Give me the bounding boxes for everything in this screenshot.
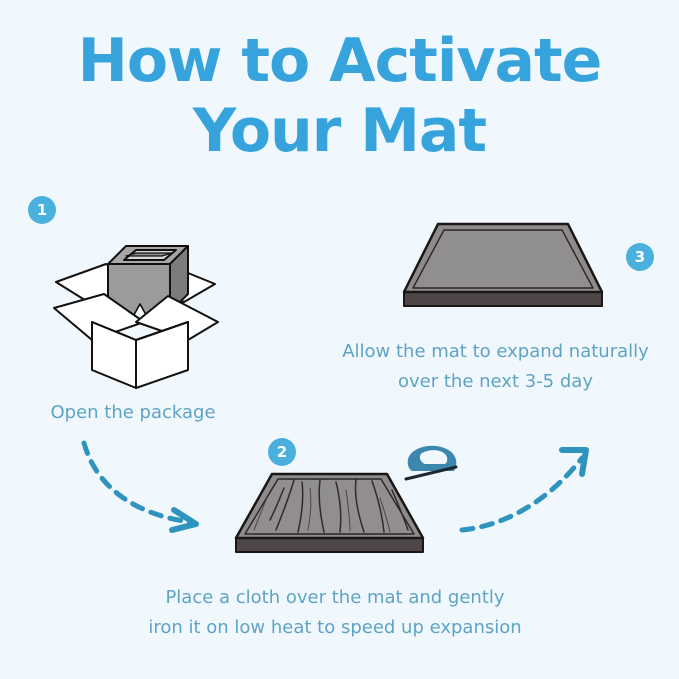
step-caption-1: Open the package — [0, 398, 266, 428]
dashed-arrow-down-right-icon — [78, 438, 223, 543]
caption-line: over the next 3-5 day — [318, 367, 673, 397]
caption-line: Allow the mat to expand naturally — [318, 337, 673, 367]
wrinkled-mat-icon — [232, 468, 427, 568]
step-badge-2: 2 — [268, 438, 296, 466]
open-box-icon — [48, 222, 223, 397]
page-title: How to Activate Your Mat — [0, 26, 679, 166]
title-line-1: How to Activate — [0, 26, 679, 96]
caption-line: Place a cloth over the mat and gently — [75, 583, 595, 613]
step-badge-3: 3 — [626, 243, 654, 271]
step-badge-1: 1 — [28, 196, 56, 224]
infographic-canvas: How to Activate Your Mat 1 — [0, 0, 679, 679]
caption-line: iron it on low heat to speed up expansio… — [75, 613, 595, 643]
step-caption-3: Allow the mat to expand naturally over t… — [318, 337, 673, 397]
dashed-arrow-up-right-icon — [458, 442, 598, 547]
caption-line: Open the package — [0, 398, 266, 428]
flat-mat-icon — [398, 218, 608, 323]
title-line-2: Your Mat — [0, 96, 679, 166]
step-caption-2: Place a cloth over the mat and gently ir… — [75, 583, 595, 643]
